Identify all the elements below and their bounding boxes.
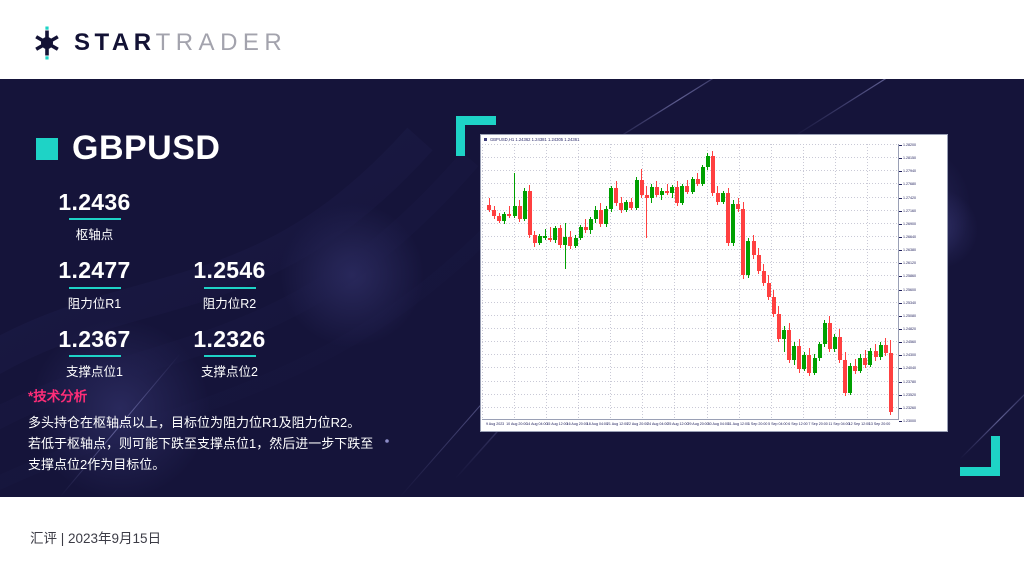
- chart-symbol-marker-icon: [484, 138, 487, 141]
- brand-wordmark: STAR TRADER: [74, 29, 287, 57]
- price-axis-tick: 1.28150: [903, 157, 916, 161]
- analysis-line-1: 多头持仓在枢轴点以上，目标位为阻力位R1及阻力位R2。: [28, 412, 428, 433]
- time-axis-tick: 6 Sep 12:00: [788, 423, 807, 427]
- price-axis: 1.282001.281501.279401.276801.274201.271…: [898, 144, 947, 420]
- pivot-label: 支撑点位2: [162, 361, 297, 380]
- time-axis-tick: 1 Sep 20:00: [748, 423, 767, 427]
- accent-square-icon: [36, 138, 58, 160]
- price-chart[interactable]: GBPUSD,H1 1.24362 1.24381 1.24305 1.2436…: [480, 134, 948, 432]
- pivot-point: 1.2436 枢轴点: [27, 189, 162, 257]
- pivot-levels: 1.2436 枢轴点 1.2477 阻力位R1 1.2546 阻力位R2: [0, 189, 400, 394]
- time-axis-tick: 5 Sep 04:00: [768, 423, 787, 427]
- pivot-underline: [69, 355, 121, 357]
- time-axis-tick: 24 Aug 04:00: [647, 423, 668, 427]
- pivot-underline: [204, 355, 256, 357]
- hero-section: GBPUSD 1.2436 枢轴点 1.2477 阻力位R1 1.2546: [0, 79, 1024, 497]
- price-axis-tick: 1.24300: [903, 354, 916, 358]
- candlestick: [889, 144, 894, 420]
- symbol-heading: GBPUSD: [36, 129, 220, 168]
- time-axis-tick: 12 Sep 12:00: [849, 423, 870, 427]
- price-axis-tick: 1.27160: [903, 210, 916, 214]
- page-footer: 汇评 | 2023年9月15日: [0, 497, 1024, 576]
- info-column: GBPUSD 1.2436 枢轴点 1.2477 阻力位R1 1.2546: [0, 79, 440, 497]
- price-axis-tick: 1.23260: [903, 407, 916, 411]
- time-axis-tick: 14 Aug 04:00: [526, 423, 547, 427]
- price-axis-tick: 1.27420: [903, 197, 916, 201]
- time-axis-tick: 31 Aug 12:00: [728, 423, 749, 427]
- analysis-title: *技术分析: [28, 385, 428, 405]
- time-axis-tick: 30 Aug 04:00: [708, 423, 729, 427]
- chart-panel: GBPUSD,H1 1.24362 1.24381 1.24305 1.2436…: [456, 116, 996, 466]
- time-axis-tick: 25 Aug 12:00: [667, 423, 688, 427]
- pivot-value: 1.2546: [162, 257, 297, 283]
- pivot-underline: [69, 218, 121, 220]
- page-title: GBPUSD: [72, 129, 220, 168]
- brand-name-bold: STAR: [74, 29, 156, 57]
- price-axis-tick: 1.23000: [903, 420, 916, 424]
- price-axis-tick: 1.28200: [903, 144, 916, 148]
- chart-plot-area[interactable]: [482, 144, 899, 420]
- pivot-label: 支撑点位1: [27, 361, 162, 380]
- gridline-vertical: [482, 144, 483, 420]
- pivot-label: 阻力位R2: [162, 293, 297, 312]
- analysis-line-3: 支撑点位2作为目标位。: [28, 454, 428, 475]
- pivot-value: 1.2436: [27, 189, 162, 215]
- price-axis-tick: 1.24040: [903, 367, 916, 371]
- chart-title: GBPUSD,H1 1.24362 1.24381 1.24305 1.2436…: [490, 137, 579, 142]
- price-axis-tick: 1.27940: [903, 170, 916, 174]
- corner-bracket-bottom-right-icon: [960, 436, 1000, 476]
- time-axis: 9 Aug 202310 Aug 20:0014 Aug 04:0015 Aug…: [482, 419, 899, 431]
- price-axis-tick: 1.23780: [903, 381, 916, 385]
- resistance-2: 1.2546 阻力位R2: [162, 257, 297, 325]
- time-axis-tick: 7 Sep 20:00: [808, 423, 827, 427]
- resistance-1: 1.2477 阻力位R1: [27, 257, 162, 325]
- pivot-label: 枢轴点: [27, 224, 162, 243]
- time-axis-tick: 18 Aug 04:00: [587, 423, 608, 427]
- time-axis-tick: 16 Aug 20:00: [567, 423, 588, 427]
- pivot-value: 1.2326: [162, 326, 297, 352]
- price-axis-tick: 1.25080: [903, 315, 916, 319]
- price-axis-tick: 1.26380: [903, 249, 916, 253]
- pivot-row-pivot: 1.2436 枢轴点: [0, 189, 400, 257]
- pivot-row-resistance: 1.2477 阻力位R1 1.2546 阻力位R2: [0, 257, 400, 325]
- time-axis-tick: 15 Aug 12:00: [546, 423, 567, 427]
- technical-analysis: *技术分析 多头持仓在枢轴点以上，目标位为阻力位R1及阻力位R2。 若低于枢轴点…: [28, 385, 428, 475]
- pivot-underline: [204, 287, 256, 289]
- price-axis-tick: 1.27680: [903, 183, 916, 187]
- price-axis-tick: 1.26640: [903, 236, 916, 240]
- footer-caption: 汇评 | 2023年9月15日: [30, 527, 161, 547]
- time-axis-tick: 29 Aug 20:00: [688, 423, 709, 427]
- price-axis-tick: 1.25600: [903, 289, 916, 293]
- pivot-value: 1.2367: [27, 326, 162, 352]
- time-axis-tick: 9 Aug 2023: [486, 423, 504, 427]
- time-axis-tick: 10 Aug 20:00: [506, 423, 527, 427]
- pivot-underline: [69, 287, 121, 289]
- pivot-value: 1.2477: [27, 257, 162, 283]
- analysis-line-2: 若低于枢轴点，则可能下跌至支撑点位1，然后进一步下跌至: [28, 433, 428, 454]
- time-axis-tick: 21 Aug 12:00: [607, 423, 628, 427]
- time-axis-tick: 22 Aug 20:00: [627, 423, 648, 427]
- brand-logo: STAR TRADER: [30, 26, 287, 60]
- time-axis-tick: 11 Sep 04:00: [829, 423, 850, 427]
- price-axis-tick: 1.26120: [903, 262, 916, 266]
- price-axis-tick: 1.25860: [903, 275, 916, 279]
- price-axis-tick: 1.25340: [903, 302, 916, 306]
- price-axis-tick: 1.24560: [903, 341, 916, 345]
- brand-name-light: TRADER: [156, 29, 288, 57]
- time-axis-tick: 13 Sep 20:00: [869, 423, 890, 427]
- price-axis-tick: 1.26900: [903, 223, 916, 227]
- chart-title-bar: GBPUSD,H1 1.24362 1.24381 1.24305 1.2436…: [481, 135, 947, 144]
- pivot-label: 阻力位R1: [27, 293, 162, 312]
- asterisk-star-icon: [30, 26, 64, 60]
- price-axis-tick: 1.24820: [903, 328, 916, 332]
- page-header: STAR TRADER: [0, 0, 1024, 79]
- analysis-body: 多头持仓在枢轴点以上，目标位为阻力位R1及阻力位R2。 若低于枢轴点，则可能下跌…: [28, 412, 428, 475]
- price-axis-tick: 1.23520: [903, 394, 916, 398]
